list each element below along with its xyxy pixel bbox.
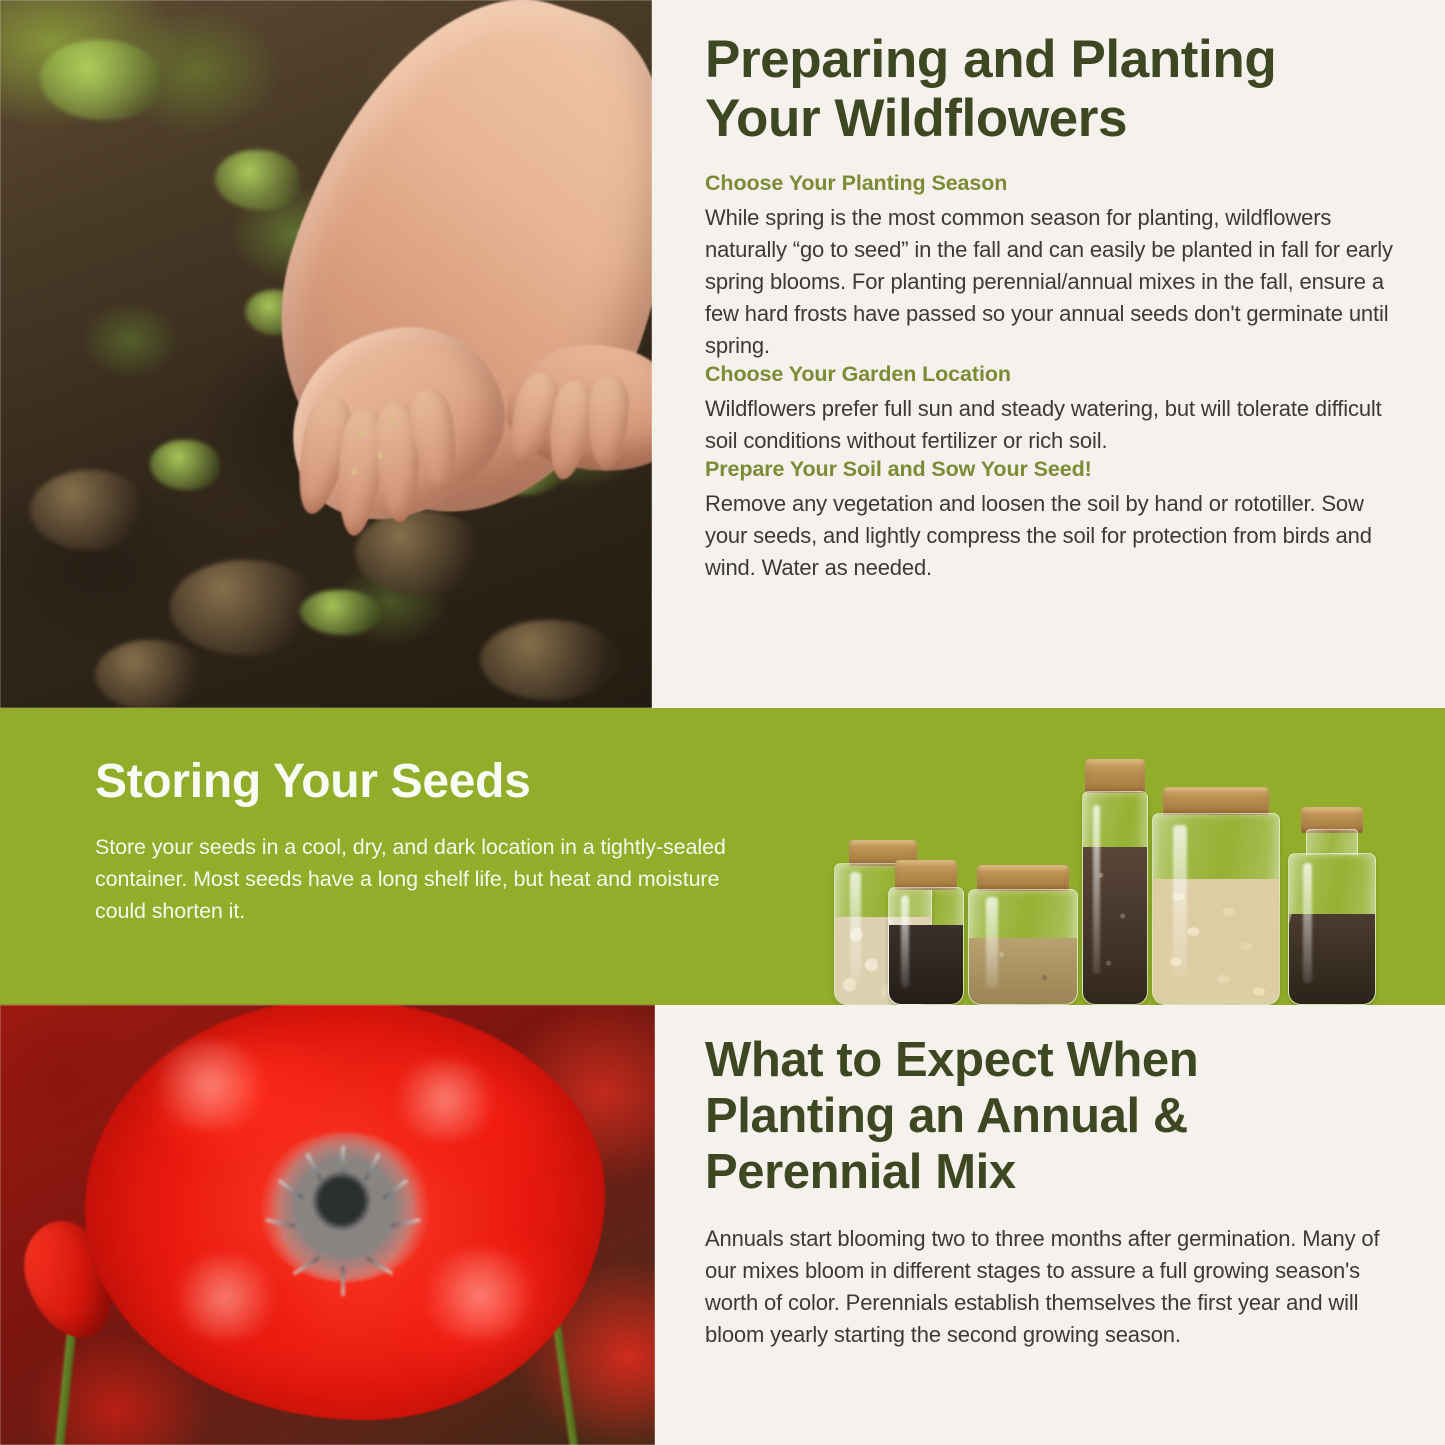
bottom-section-paragraph: Annuals start blooming two to three mont… [705, 1223, 1393, 1351]
jar-pumpkin-seeds [1152, 787, 1280, 1005]
poppy-center [258, 1132, 433, 1282]
band-paragraph: Store your seeds in a cool, dry, and dar… [95, 831, 735, 928]
top-text-column: Preparing and Planting Your Wildflowers … [652, 0, 1445, 708]
hand-sowing-seeds-photo [0, 0, 652, 708]
paragraph-prepare-your-soil: Remove any vegetation and loosen the soi… [705, 488, 1393, 584]
bottom-text-column: What to Expect When Planting an Annual &… [655, 1005, 1445, 1445]
band-text-column: Storing Your Seeds Store your seeds in a… [95, 756, 735, 928]
subheading-choose-planting-season: Choose Your Planting Season [705, 171, 1393, 197]
page-title: Preparing and Planting Your Wildflowers [705, 30, 1393, 149]
band-title: Storing Your Seeds [95, 756, 735, 809]
paragraph-choose-garden-location: Wildflowers prefer full sun and steady w… [705, 393, 1393, 457]
bottom-section-title: What to Expect When Planting an Annual &… [705, 1033, 1393, 1201]
jar-tall-dark-seeds [1082, 759, 1148, 1005]
infographic-page: Preparing and Planting Your Wildflowers … [0, 0, 1445, 1445]
subheading-prepare-your-soil: Prepare Your Soil and Sow Your Seed! [705, 457, 1393, 483]
seed-storage-jars-photo [826, 735, 1386, 1005]
jar-fine-tan-seeds [968, 865, 1078, 1005]
block-prepare-soil: Prepare Your Soil and Sow Your Seed! Rem… [705, 457, 1393, 584]
subheading-choose-garden-location: Choose Your Garden Location [705, 362, 1393, 388]
jar-black-seeds [888, 860, 964, 1005]
paragraph-choose-planting-season: While spring is the most common season f… [705, 202, 1393, 363]
red-poppy-flower-photo [0, 1005, 655, 1445]
section-preparing-and-planting: Preparing and Planting Your Wildflowers … [0, 0, 1445, 708]
block-garden-location: Choose Your Garden Location Wildflowers … [705, 362, 1393, 457]
section-what-to-expect: What to Expect When Planting an Annual &… [0, 1005, 1445, 1445]
jar-sunflower-seeds [1288, 807, 1376, 1005]
poppy-bloom [85, 1005, 605, 1420]
block-planting-season: Choose Your Planting Season While spring… [705, 171, 1393, 362]
